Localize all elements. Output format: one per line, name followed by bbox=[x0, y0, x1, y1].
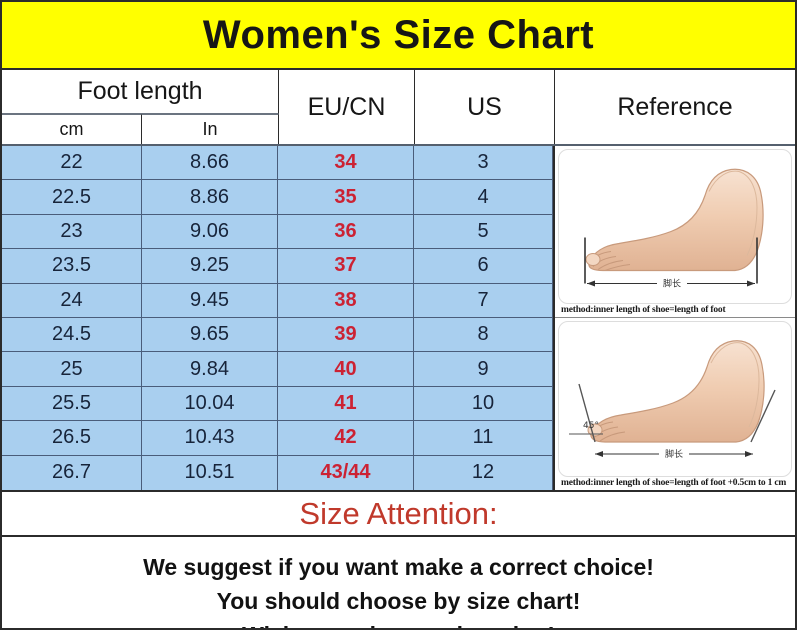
cell-eu-cn: 41 bbox=[278, 387, 414, 421]
cell-eu-cn: 36 bbox=[278, 215, 414, 249]
column-header-eu-cn: EU/CN bbox=[279, 70, 415, 144]
cell-cm: 23.5 bbox=[2, 249, 142, 283]
cell-us: 4 bbox=[414, 180, 553, 214]
attention-notes: We suggest if you want make a correct ch… bbox=[2, 537, 795, 630]
cell-us: 12 bbox=[414, 456, 553, 490]
note-line: You should choose by size chart! bbox=[217, 588, 581, 615]
reference-figure-1: 脚长 method:inner length of shoe=length of… bbox=[555, 146, 795, 318]
reference-caption-2: method:inner length of shoe=length of fo… bbox=[558, 477, 792, 490]
cell-cm: 23 bbox=[2, 215, 142, 249]
cell-eu-cn: 39 bbox=[278, 318, 414, 352]
cell-us: 6 bbox=[414, 249, 553, 283]
size-chart-root: Women's Size Chart Foot length EU/CN US … bbox=[0, 0, 797, 630]
cell-cm: 26.5 bbox=[2, 421, 142, 455]
cell-cm: 25 bbox=[2, 352, 142, 386]
column-header-us: US bbox=[415, 70, 555, 144]
cell-eu-cn: 40 bbox=[278, 352, 414, 386]
size-data-columns: 22 8.66 34 3 22.5 8.86 35 4 23 9.06 36 5… bbox=[2, 146, 555, 490]
cell-eu-cn: 38 bbox=[278, 284, 414, 318]
cell-in: 9.06 bbox=[142, 215, 278, 249]
table-row: 24.5 9.65 39 8 bbox=[2, 318, 553, 352]
cell-eu-cn: 42 bbox=[278, 421, 414, 455]
table-row: 26.7 10.51 43/44 12 bbox=[2, 456, 553, 490]
cell-us: 7 bbox=[414, 284, 553, 318]
cell-us: 10 bbox=[414, 387, 553, 421]
cell-cm: 24 bbox=[2, 284, 142, 318]
column-header-cm: cm bbox=[2, 114, 142, 144]
cell-in: 10.43 bbox=[142, 421, 278, 455]
svg-text:脚长: 脚长 bbox=[665, 448, 683, 460]
table-row: 22.5 8.86 35 4 bbox=[2, 180, 553, 214]
page-title: Women's Size Chart bbox=[203, 13, 594, 58]
foot-side-view-angled-icon: 45° 脚长 bbox=[558, 321, 792, 477]
size-attention-heading: Size Attention: bbox=[299, 496, 497, 532]
cell-eu-cn: 34 bbox=[278, 146, 414, 180]
table-row: 23 9.06 36 5 bbox=[2, 215, 553, 249]
column-header-foot-length: Foot length bbox=[2, 70, 279, 114]
table-row: 24 9.45 38 7 bbox=[2, 284, 553, 318]
cell-us: 8 bbox=[414, 318, 553, 352]
cell-in: 9.45 bbox=[142, 284, 278, 318]
table-row: 25.5 10.04 41 10 bbox=[2, 387, 553, 421]
table-row: 25 9.84 40 9 bbox=[2, 352, 553, 386]
cell-in: 8.86 bbox=[142, 180, 278, 214]
cell-cm: 22.5 bbox=[2, 180, 142, 214]
column-header-reference: Reference bbox=[555, 70, 795, 144]
table-body: 22 8.66 34 3 22.5 8.86 35 4 23 9.06 36 5… bbox=[2, 146, 795, 490]
table-row: 26.5 10.43 42 11 bbox=[2, 421, 553, 455]
foot-side-view-icon: 脚长 bbox=[558, 149, 792, 304]
cell-us: 5 bbox=[414, 215, 553, 249]
cell-in: 9.84 bbox=[142, 352, 278, 386]
table-row: 23.5 9.25 37 6 bbox=[2, 249, 553, 283]
cell-in: 8.66 bbox=[142, 146, 278, 180]
reference-figure-2: 45° 脚长 method:inner length of shoe=lengt… bbox=[555, 318, 795, 490]
svg-text:45°: 45° bbox=[583, 421, 599, 431]
reference-caption-1: method:inner length of shoe=length of fo… bbox=[558, 304, 792, 317]
table-row: 22 8.66 34 3 bbox=[2, 146, 553, 180]
cell-cm: 22 bbox=[2, 146, 142, 180]
cell-in: 9.65 bbox=[142, 318, 278, 352]
cell-us: 3 bbox=[414, 146, 553, 180]
cell-cm: 26.7 bbox=[2, 456, 142, 490]
size-attention-banner: Size Attention: bbox=[2, 490, 795, 537]
cell-eu-cn: 37 bbox=[278, 249, 414, 283]
cell-in: 10.04 bbox=[142, 387, 278, 421]
cell-cm: 24.5 bbox=[2, 318, 142, 352]
cell-in: 10.51 bbox=[142, 456, 278, 490]
cell-us: 9 bbox=[414, 352, 553, 386]
note-line: We suggest if you want make a correct ch… bbox=[143, 554, 654, 581]
reference-column: 脚长 method:inner length of shoe=length of… bbox=[555, 146, 795, 490]
cell-in: 9.25 bbox=[142, 249, 278, 283]
note-line: Wish you a happy shopping! bbox=[242, 622, 555, 630]
cell-cm: 25.5 bbox=[2, 387, 142, 421]
cell-us: 11 bbox=[414, 421, 553, 455]
column-header-in: In bbox=[142, 114, 279, 144]
title-banner: Women's Size Chart bbox=[2, 2, 795, 70]
cell-eu-cn: 35 bbox=[278, 180, 414, 214]
svg-text:脚长: 脚长 bbox=[663, 278, 681, 290]
cell-eu-cn: 43/44 bbox=[278, 456, 414, 490]
table-header: Foot length EU/CN US Reference cm In bbox=[2, 70, 795, 146]
